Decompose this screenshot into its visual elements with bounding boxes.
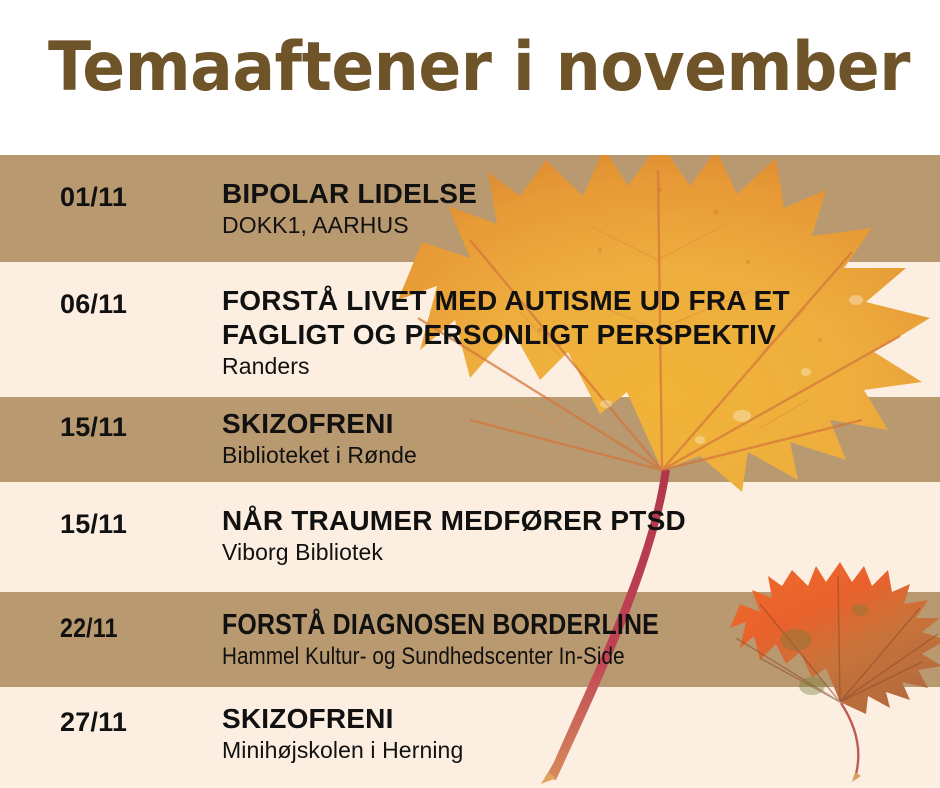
- event-venue: Biblioteket i Rønde: [222, 441, 417, 470]
- event-title-line2: FAGLIGT OG PERSONLIGT PERSPEKTIV: [222, 318, 790, 352]
- event-row: 06/11 FORSTÅ LIVET MED AUTISME UD FRA ET…: [0, 262, 940, 397]
- page-title: Temaaftener i november: [48, 28, 910, 108]
- event-title: SKIZOFRENI: [222, 407, 417, 441]
- event-body: SKIZOFRENI Minihøjskolen i Herning: [222, 702, 463, 765]
- event-row: 22/11 FORSTÅ DIAGNOSEN BORDERLINE Hammel…: [0, 592, 940, 687]
- event-venue: Viborg Bibliotek: [222, 538, 686, 567]
- event-title: FORSTÅ LIVET MED AUTISME UD FRA ET: [222, 284, 790, 318]
- event-date: 01/11: [60, 181, 127, 213]
- event-title: BIPOLAR LIDELSE: [222, 177, 477, 211]
- event-row: 27/11 SKIZOFRENI Minihøjskolen i Herning: [0, 687, 940, 788]
- event-date: 27/11: [60, 706, 127, 738]
- event-venue: Minihøjskolen i Herning: [222, 736, 463, 765]
- event-venue: DOKK1, AARHUS: [222, 211, 477, 240]
- title-area: Temaaftener i november: [0, 0, 940, 155]
- event-date: 15/11: [60, 508, 127, 540]
- event-body: FORSTÅ LIVET MED AUTISME UD FRA ET FAGLI…: [222, 284, 790, 381]
- event-body: NÅR TRAUMER MEDFØRER PTSD Viborg Bibliot…: [222, 504, 686, 567]
- event-date: 22/11: [60, 612, 118, 644]
- event-date: 15/11: [60, 411, 127, 443]
- event-body: FORSTÅ DIAGNOSEN BORDERLINE Hammel Kultu…: [222, 608, 730, 671]
- event-venue: Randers: [222, 352, 790, 381]
- poster-canvas: 01/11 BIPOLAR LIDELSE DOKK1, AARHUS 06/1…: [0, 0, 940, 788]
- event-title: SKIZOFRENI: [222, 702, 463, 736]
- event-row: 01/11 BIPOLAR LIDELSE DOKK1, AARHUS: [0, 155, 940, 262]
- event-body: BIPOLAR LIDELSE DOKK1, AARHUS: [222, 177, 477, 240]
- event-venue: Hammel Kultur- og Sundhedscenter In-Side: [222, 642, 659, 671]
- event-title: FORSTÅ DIAGNOSEN BORDERLINE: [222, 608, 659, 642]
- event-date: 06/11: [60, 288, 127, 320]
- event-row: 15/11 SKIZOFRENI Biblioteket i Rønde: [0, 397, 940, 482]
- event-body: SKIZOFRENI Biblioteket i Rønde: [222, 407, 417, 470]
- event-row: 15/11 NÅR TRAUMER MEDFØRER PTSD Viborg B…: [0, 482, 940, 592]
- event-title: NÅR TRAUMER MEDFØRER PTSD: [222, 504, 686, 538]
